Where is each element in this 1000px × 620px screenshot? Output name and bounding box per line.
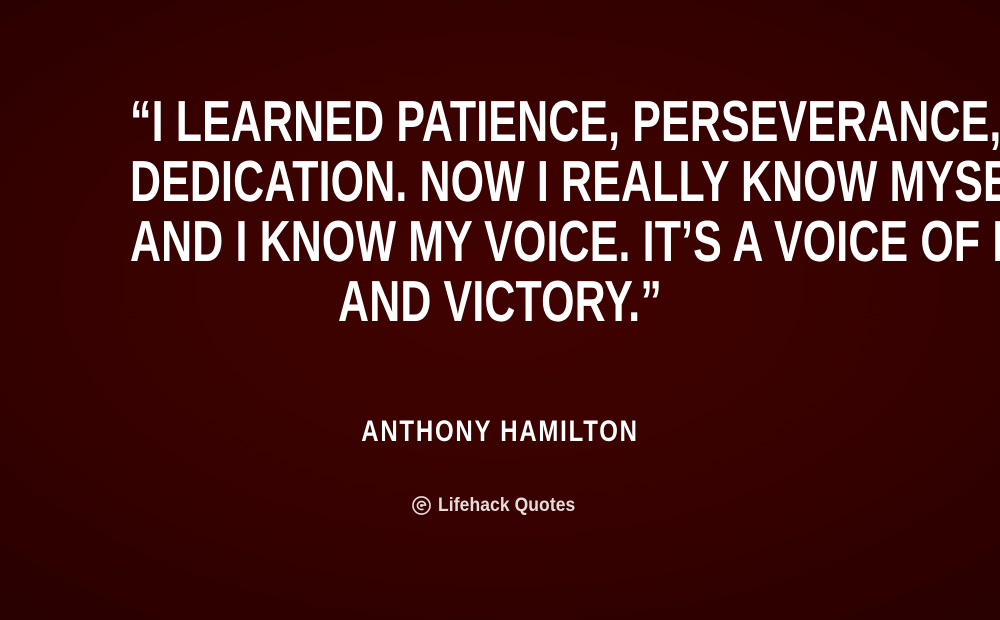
brand-name-label: Lifehack Quotes xyxy=(438,496,575,515)
footer-branding: Lifehack Quotes xyxy=(0,496,1000,515)
lifehack-circle-logo-icon xyxy=(412,496,431,515)
quote-line-4: AND VICTORY.” xyxy=(130,272,870,332)
quote-text-block: “I LEARNED PATIENCE, PERSEVERANCE, AND D… xyxy=(0,92,1000,332)
quote-line-1: “I LEARNED PATIENCE, PERSEVERANCE, AND xyxy=(130,92,870,152)
quote-line-3: AND I KNOW MY VOICE. IT’S A VOICE OF PAI… xyxy=(130,212,870,272)
quote-card: “I LEARNED PATIENCE, PERSEVERANCE, AND D… xyxy=(0,0,1000,620)
quote-line-2: DEDICATION. NOW I REALLY KNOW MYSELF, xyxy=(130,152,870,212)
quote-author: ANTHONY HAMILTON xyxy=(100,416,900,448)
